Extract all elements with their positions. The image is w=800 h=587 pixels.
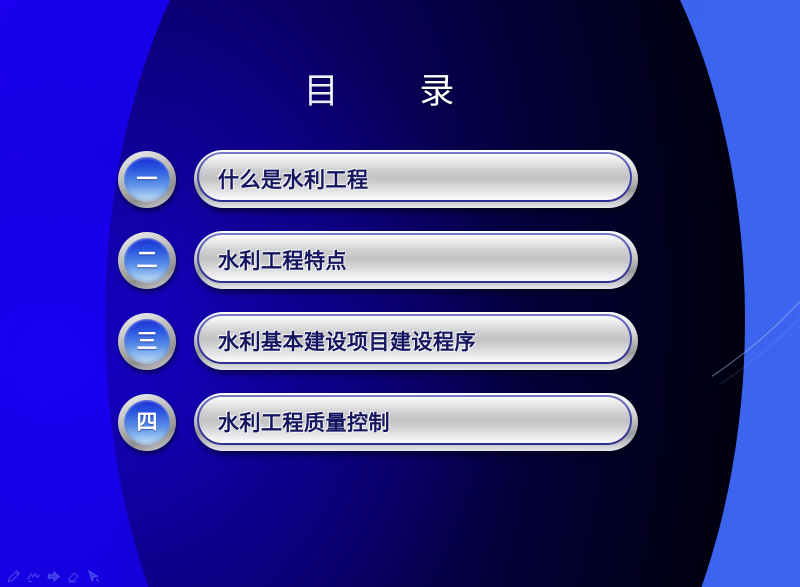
ink-annotation-toolbar[interactable] [6, 569, 101, 584]
agenda-number-badge: 一 [118, 151, 176, 208]
list-item[interactable]: 一 什么是水利工程 [118, 150, 638, 208]
agenda-item-label: 水利基本建设项目建设程序 [218, 312, 624, 370]
agenda-number-badge: 四 [118, 394, 176, 451]
agenda-number-badge-inner: 二 [124, 238, 170, 283]
agenda-number-badge: 二 [118, 232, 176, 289]
ink-cursor-icon[interactable] [86, 569, 101, 584]
agenda-item-label: 什么是水利工程 [218, 150, 624, 208]
agenda-number-label: 二 [137, 250, 158, 271]
agenda-number-label: 四 [137, 412, 158, 433]
agenda-item-label: 水利工程特点 [218, 231, 624, 289]
agenda-pill[interactable]: 水利工程质量控制 [194, 393, 638, 451]
agenda-number-label: 三 [137, 331, 158, 352]
agenda-pill[interactable]: 水利工程特点 [194, 231, 638, 289]
agenda-pill[interactable]: 什么是水利工程 [194, 150, 638, 208]
agenda-number-badge-inner: 一 [124, 157, 170, 202]
list-item[interactable]: 四 水利工程质量控制 [118, 393, 638, 451]
list-item[interactable]: 三 水利基本建设项目建设程序 [118, 312, 638, 370]
agenda-list: 一 什么是水利工程 二 水利工程特点 [118, 150, 638, 474]
agenda-number-badge: 三 [118, 313, 176, 370]
arrow-pointer-icon[interactable] [46, 569, 61, 584]
agenda-pill[interactable]: 水利基本建设项目建设程序 [194, 312, 638, 370]
presentation-slide: 目 录 一 什么是水利工程 二 [0, 0, 800, 587]
agenda-number-label: 一 [137, 169, 158, 190]
list-item[interactable]: 二 水利工程特点 [118, 231, 638, 289]
agenda-number-badge-inner: 三 [124, 319, 170, 364]
eraser-icon[interactable] [66, 569, 81, 584]
agenda-number-badge-inner: 四 [124, 400, 170, 445]
agenda-item-label: 水利工程质量控制 [218, 393, 624, 451]
highlighter-icon[interactable] [26, 569, 41, 584]
pen-icon[interactable] [6, 569, 21, 584]
slide-title: 目 录 [0, 63, 760, 114]
